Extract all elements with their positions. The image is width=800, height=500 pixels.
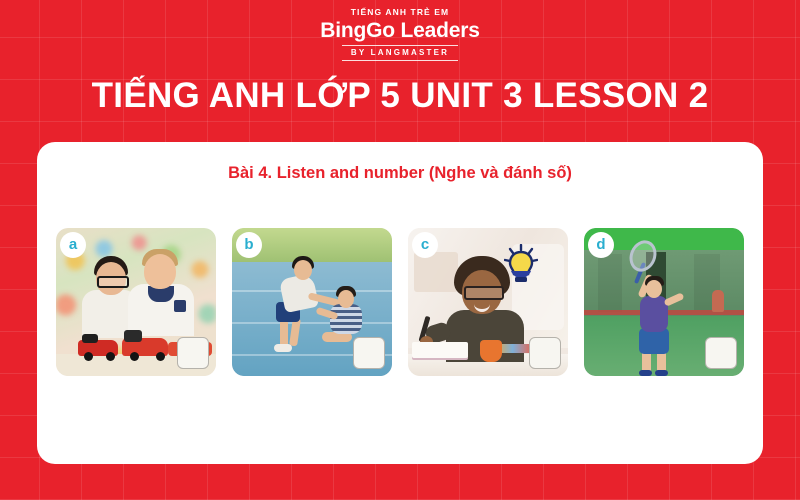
boy-right-head — [144, 254, 176, 289]
brand-divider-bottom — [342, 60, 458, 61]
player-head — [646, 280, 662, 298]
brand-kicker: TIẾNG ANH TRẺ EM — [0, 8, 800, 17]
answer-box-c[interactable] — [529, 337, 561, 369]
item-label-b: b — [236, 232, 262, 258]
sitting-boy-head — [338, 290, 354, 308]
toy-wheel-2 — [106, 352, 115, 361]
boy-right-emblem — [174, 300, 186, 312]
boy-glasses — [464, 286, 504, 300]
exercise-item-a[interactable]: a — [56, 228, 216, 376]
answer-box-b[interactable] — [353, 337, 385, 369]
picture-row: a — [56, 228, 744, 378]
answer-box-d[interactable] — [705, 337, 737, 369]
standing-boy-head — [294, 260, 312, 280]
content-card: Bài 4. Listen and number (Nghe và đánh s… — [37, 142, 763, 464]
pencil-cup — [480, 340, 502, 362]
brand-divider-top — [342, 45, 458, 46]
lightbulb-icon — [504, 244, 538, 286]
background-spectator — [712, 290, 724, 312]
background-shelf — [414, 252, 458, 292]
exercise-item-d[interactable]: d — [584, 228, 744, 376]
item-label-a: a — [60, 232, 86, 258]
standing-boy-shoe — [274, 344, 292, 352]
boy-left-glasses — [97, 276, 129, 288]
lane-line-2 — [232, 322, 392, 324]
exercise-item-c[interactable]: c — [408, 228, 568, 376]
toy-wheel-1 — [84, 352, 93, 361]
answer-box-a[interactable] — [177, 337, 209, 369]
toy-wheel-3 — [130, 352, 139, 361]
toy-car-2-cab — [124, 330, 142, 342]
player-shoe-left — [639, 370, 652, 376]
item-label-c: c — [412, 232, 438, 258]
player-shoe-right — [655, 370, 668, 376]
item-label-d: d — [588, 232, 614, 258]
page-title: TIẾNG ANH LỚP 5 UNIT 3 LESSON 2 — [0, 76, 800, 116]
slide-canvas: TIẾNG ANH TRẺ EM BingGo Leaders BY LANGM… — [0, 0, 800, 500]
toy-wheel-4 — [156, 352, 165, 361]
brand-tagline: BY LANGMASTER — [0, 49, 800, 57]
toy-car-1-cab — [82, 334, 98, 343]
wall-panel-left — [598, 254, 622, 312]
notebook — [412, 342, 468, 358]
brand-name: BingGo Leaders — [0, 20, 800, 41]
lesson-subtitle: Bài 4. Listen and number (Nghe và đánh s… — [37, 164, 763, 183]
brand-logo: TIẾNG ANH TRẺ EM BingGo Leaders BY LANGM… — [0, 8, 800, 61]
exercise-item-b[interactable]: b — [232, 228, 392, 376]
